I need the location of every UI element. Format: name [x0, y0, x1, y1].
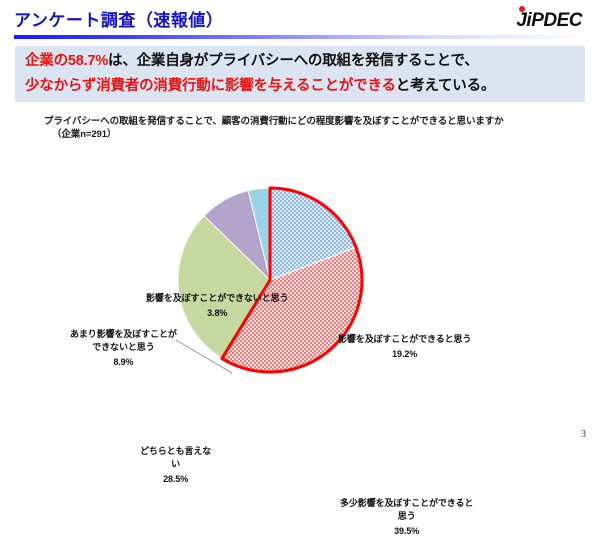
pie-chart-svg: [0, 140, 600, 440]
jipdec-logo: JiPDEC: [516, 10, 582, 32]
pie-label-amari-text: あまり影響を及ぼすことが: [70, 329, 177, 339]
callout-highlight-2: 少なからず消費者の消費行動に影響を与えることができる: [25, 78, 396, 94]
pie-label-dekinai: 影響を及ぼすことができないと思う 3.8%: [146, 292, 288, 320]
callout-rest-2: と考えている。: [396, 78, 495, 94]
pie-label-dekiru-text: 影響を及ぼすことができると思う: [338, 334, 471, 344]
key-finding-callout: 企業の58.7%は、企業自身がプライバシーへの取組を発信することで、 少なからず…: [15, 46, 585, 102]
pie-label-tasho-text2: 思う: [398, 511, 416, 521]
pie-chart: 影響を及ぼすことができないと思う 3.8% あまり影響を及ぼすことが できないと…: [0, 140, 600, 440]
pie-label-dochira: どちらとも言えな い 28.5%: [140, 445, 211, 486]
chart-question-line1: プライバシーへの取組を発信することで、顧客の消費行動にどの程度影響を及ぼすことが…: [44, 116, 504, 127]
chart-question: プライバシーへの取組を発信することで、顧客の消費行動にどの程度影響を及ぼすことが…: [44, 115, 504, 141]
pie-label-dekiru-pct: 19.2%: [338, 348, 471, 361]
callout-highlight-1: 企業の58.7%: [25, 53, 108, 69]
pie-label-amari-pct: 8.9%: [70, 356, 177, 369]
pie-label-dochira-text2: い: [171, 459, 180, 469]
pie-label-amari: あまり影響を及ぼすことが できないと思う 8.9%: [70, 328, 177, 369]
pie-label-tasho-pct: 39.5%: [340, 525, 473, 538]
pie-label-dochira-pct: 28.5%: [140, 473, 211, 486]
page-number: 3: [581, 429, 586, 440]
pie-label-dekinai-pct: 3.8%: [146, 307, 288, 320]
pie-label-tasho-text: 多少影響を及ぼすことができると: [340, 498, 473, 508]
callout-rest-1: は、企業自身がプライバシーへの取組を発信することで、: [108, 53, 479, 69]
pie-label-dekinai-text: 影響を及ぼすことができないと思う: [146, 293, 288, 303]
pie-label-dekiru: 影響を及ぼすことができると思う 19.2%: [338, 333, 471, 361]
title-divider: [14, 35, 586, 39]
callout-line-2: 少なからず消費者の消費行動に影響を与えることができると考えている。: [25, 74, 575, 99]
page-title: アンケート調査（速報値）: [14, 6, 223, 31]
slide-root: アンケート調査（速報値） JiPDEC 企業の58.7%は、企業自身がプライバシ…: [0, 0, 600, 450]
callout-line-1: 企業の58.7%は、企業自身がプライバシーへの取組を発信することで、: [25, 49, 575, 74]
pie-label-amari-text2: できないと思う: [92, 342, 154, 352]
pie-label-dochira-text: どちらとも言えな: [140, 446, 211, 456]
pie-label-tasho: 多少影響を及ぼすことができると 思う 39.5%: [340, 497, 473, 538]
logo-text: JiPDEC: [516, 10, 582, 31]
